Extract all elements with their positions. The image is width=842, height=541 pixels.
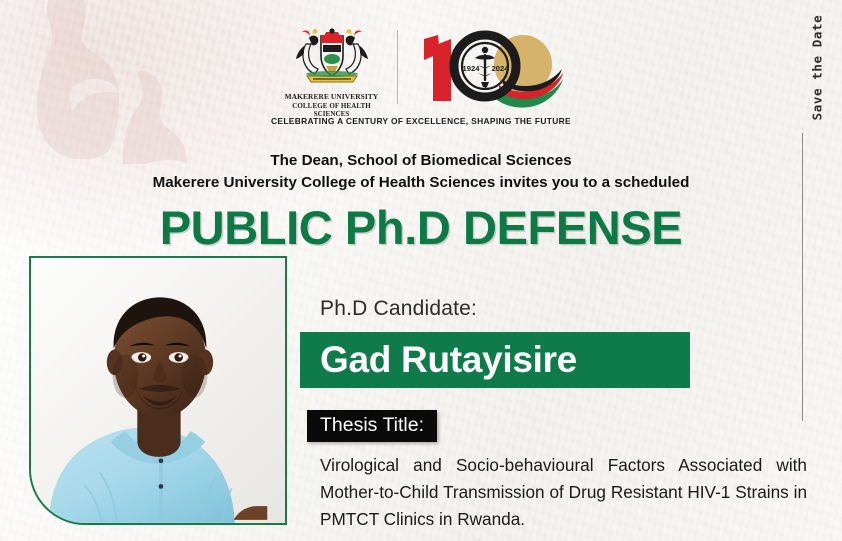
centenary-100-logo-icon: 1924 2024: [411, 28, 563, 114]
invitation-block: The Dean, School of Biomedical Sciences …: [0, 150, 842, 193]
candidate-name-banner: Gad Rutayisire: [300, 332, 690, 388]
flyer-canvas: MAKERERE UNIVERSITY COLLEGE OF HEALTH SC…: [0, 0, 842, 541]
invitation-line-1: The Dean, School of Biomedical Sciences: [0, 150, 842, 172]
makerere-logo-block: MAKERERE UNIVERSITY COLLEGE OF HEALTH SC…: [280, 28, 384, 118]
logo-divider: [397, 30, 398, 104]
invitation-line-2: Makerere University College of Health Sc…: [0, 172, 842, 194]
candidate-photo: [31, 258, 285, 523]
page-title: PUBLIC Ph.D DEFENSE: [0, 200, 842, 255]
thesis-title-text: Virological and Socio-behavioural Factor…: [320, 452, 807, 534]
candidate-portrait-frame: [29, 256, 287, 525]
candidate-name: Gad Rutayisire: [320, 339, 577, 381]
header-logo-row: MAKERERE UNIVERSITY COLLEGE OF HEALTH SC…: [0, 28, 842, 118]
candidate-label: Ph.D Candidate:: [320, 297, 477, 321]
thesis-title-tag: Thesis Title:: [307, 410, 437, 442]
vertical-rule: [802, 133, 803, 421]
centenary-tagline: CELEBRATING A CENTURY OF EXCELLENCE, SHA…: [0, 116, 842, 126]
save-the-date-label: Save the Date: [810, 14, 825, 120]
centenary-end-year: 2024: [491, 64, 509, 73]
makerere-coat-of-arms-icon: [293, 28, 371, 90]
save-the-date-rail: Save the Date: [806, 8, 828, 126]
centenary-start-year: 1924: [462, 64, 480, 73]
university-name: MAKERERE UNIVERSITY: [280, 93, 384, 102]
